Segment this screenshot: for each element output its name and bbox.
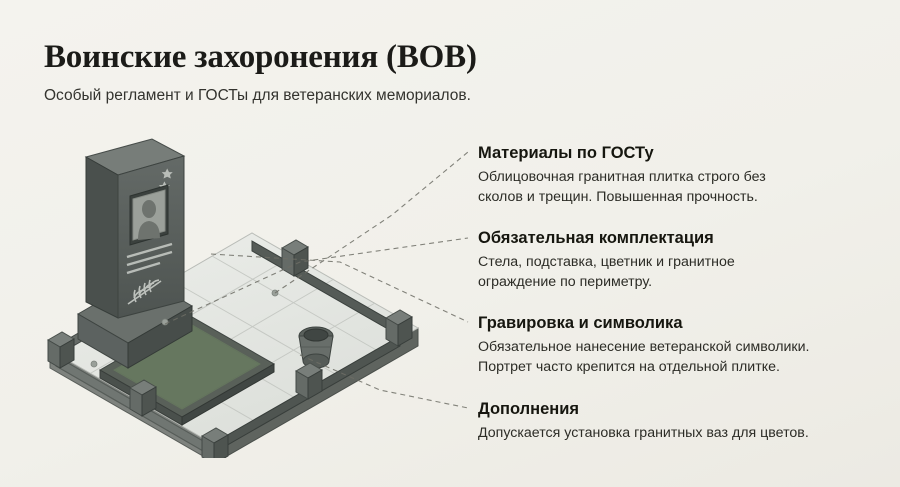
infographic-canvas: Воинские захоронения (ВОВ) Особый реглам…: [0, 0, 900, 487]
callout-title: Дополнения: [478, 399, 888, 419]
callout-additions: Дополнения Допускается установка гранитн…: [478, 399, 888, 444]
callout-title: Гравировка и символика: [478, 313, 888, 333]
page-subtitle: Особый регламент и ГОСТы для ветеранских…: [44, 85, 644, 107]
callout-engraving: Гравировка и символика Обязательное нане…: [478, 313, 888, 377]
callout-body: Облицовочная гранитная плитка строго без…: [478, 168, 888, 207]
memorial-stele: [86, 139, 184, 318]
callout-materials: Материалы по ГОСТу Облицовочная гранитна…: [478, 143, 888, 207]
callout-body: Обязательное нанесение ветеранской симво…: [478, 338, 888, 377]
callout-body: Допускается установка гранитных ваз для …: [478, 424, 888, 444]
callout-title: Материалы по ГОСТу: [478, 143, 888, 163]
callout-title: Обязательная комплектация: [478, 228, 888, 248]
page-title: Воинские захоронения (ВОВ): [44, 38, 644, 76]
portrait-plaque: [130, 185, 168, 245]
memorial-illustration: [20, 118, 460, 458]
granite-vase: [299, 327, 333, 368]
callout-required-set: Обязательная комплектация Стела, подстав…: [478, 228, 888, 292]
callout-body: Стела, подставка, цветник и гранитное ог…: [478, 253, 888, 292]
header: Воинские захоронения (ВОВ) Особый реглам…: [44, 38, 644, 107]
